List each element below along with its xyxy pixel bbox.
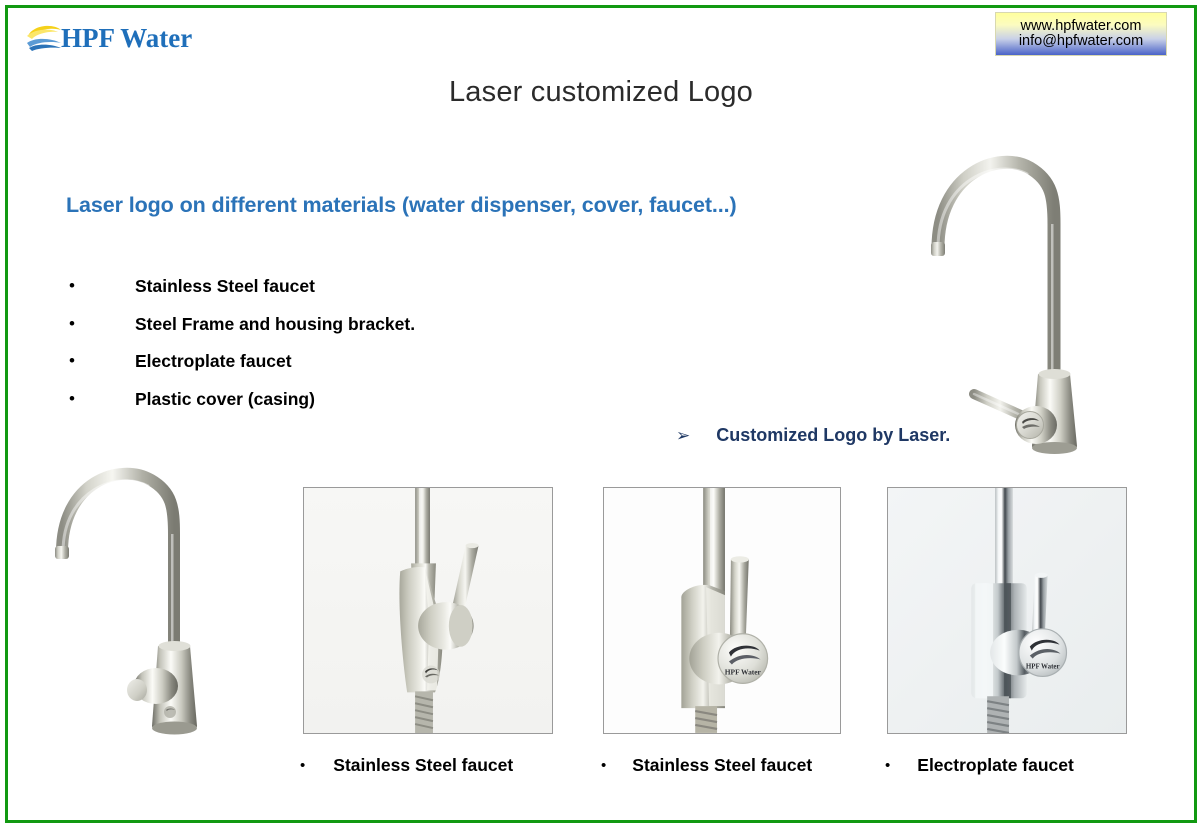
list-item-label: Steel Frame and housing bracket. xyxy=(135,314,415,335)
section-heading: Laser logo on different materials (water… xyxy=(66,193,737,218)
list-item: • Plastic cover (casing) xyxy=(64,381,584,419)
brand-logo-text: HPF Water xyxy=(61,23,192,54)
bullet-marker-icon: • xyxy=(300,758,305,773)
email-address[interactable]: info@hpfwater.com xyxy=(1019,34,1143,49)
photo-caption-label: Electroplate faucet xyxy=(917,755,1074,776)
contact-info-box[interactable]: www.hpfwater.com info@hpfwater.com xyxy=(995,12,1167,56)
arrow-bullet-icon: ➢ xyxy=(676,427,690,444)
list-item: • Stainless Steel faucet xyxy=(64,268,584,306)
callout-note: ➢ Customized Logo by Laser. xyxy=(676,425,950,446)
bullet-marker-icon: • xyxy=(69,315,75,332)
photo-caption: • Electroplate faucet xyxy=(885,752,1074,778)
slide-canvas: HPF Water www.hpfwater.com info@hpfwater… xyxy=(0,0,1202,828)
list-item-label: Plastic cover (casing) xyxy=(135,389,315,410)
list-item: • Electroplate faucet xyxy=(64,343,584,381)
list-item: • Steel Frame and housing bracket. xyxy=(64,306,584,344)
gooseneck-faucet-photo xyxy=(36,450,216,755)
photo-caption-label: Stainless Steel faucet xyxy=(632,755,812,776)
product-photo-stainless-1 xyxy=(303,487,553,734)
photo-caption-label: Stainless Steel faucet xyxy=(333,755,513,776)
bullet-marker-icon: • xyxy=(69,352,75,369)
website-url[interactable]: www.hpfwater.com xyxy=(1021,19,1142,34)
bullet-marker-icon: • xyxy=(69,390,75,407)
brand-logo: HPF Water xyxy=(24,18,244,58)
gooseneck-faucet-photo xyxy=(912,128,1087,458)
sun-wave-logo-icon xyxy=(24,21,64,55)
bullet-marker-icon: • xyxy=(69,277,75,294)
list-item-label: Electroplate faucet xyxy=(135,351,292,372)
svg-text:HPF Water: HPF Water xyxy=(1026,662,1060,670)
svg-text:HPF Water: HPF Water xyxy=(725,667,762,676)
product-photo-electroplate: HPF Water xyxy=(887,487,1127,734)
photo-caption: • Stainless Steel faucet xyxy=(300,752,513,778)
product-photo-stainless-2: HPF Water xyxy=(603,487,841,734)
bullet-marker-icon: • xyxy=(601,758,606,773)
material-bullet-list: • Stainless Steel faucet • Steel Frame a… xyxy=(64,268,584,418)
list-item-label: Stainless Steel faucet xyxy=(135,276,315,297)
page-title: Laser customized Logo xyxy=(0,76,1202,109)
photo-caption: • Stainless Steel faucet xyxy=(601,752,812,778)
bullet-marker-icon: • xyxy=(885,758,890,773)
